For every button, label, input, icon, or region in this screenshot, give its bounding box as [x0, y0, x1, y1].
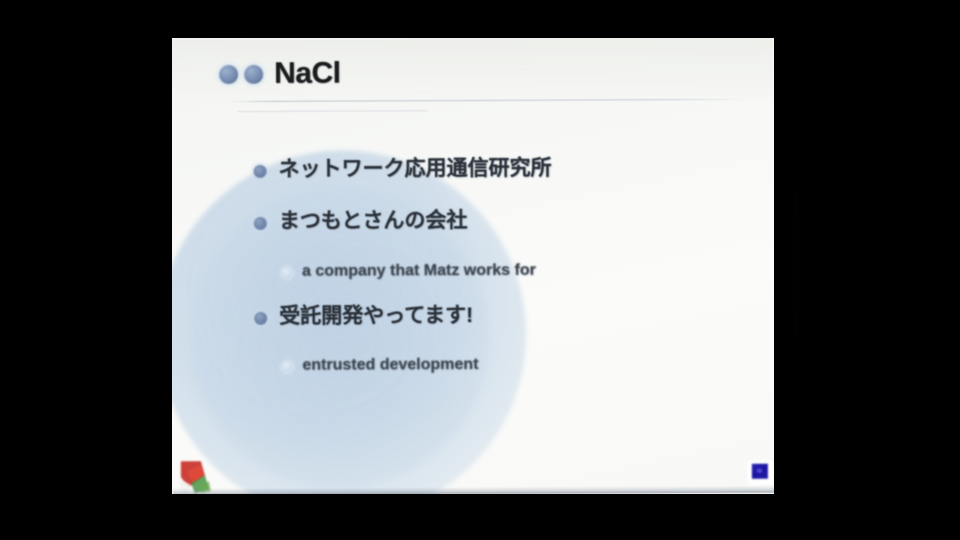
- bullet-text: ネットワーク応用通信研究所: [279, 156, 552, 183]
- title-bullet-left-icon: [219, 65, 238, 84]
- sub-bullet-marker-icon: [282, 267, 292, 277]
- slide-title-row: NaCl: [219, 57, 341, 92]
- title-bullet-right-icon: [244, 64, 263, 83]
- bullet-item: 受託開発やってます!: [172, 301, 774, 330]
- bullet-marker-icon: [254, 311, 267, 324]
- bullet-marker-icon: [254, 217, 267, 230]
- sub-bullet-text: entrusted development: [302, 355, 478, 376]
- bullet-item: まつもとさんの会社: [172, 207, 774, 236]
- sub-bullet-item: entrusted development: [172, 353, 774, 376]
- sub-bullet-text: a company that Matz works for: [302, 260, 536, 281]
- slide-bottom-shade: [173, 486, 774, 494]
- sub-bullet-item: a company that Matz works for: [172, 259, 774, 282]
- slide-title: NaCl: [274, 57, 341, 91]
- bullet-text: まつもとさんの会社: [279, 208, 468, 235]
- blue-square-logo-icon: [748, 461, 772, 485]
- sub-bullet-marker-icon: [282, 362, 292, 372]
- slide-bullet-list: ネットワーク応用通信研究所 まつもとさんの会社 a company that M…: [172, 155, 774, 398]
- bullet-marker-icon: [254, 165, 267, 178]
- presentation-slide: NaCl ネットワーク応用通信研究所 まつもとさんの会社 a company t…: [172, 38, 774, 494]
- bullet-text: 受託開発やってます!: [279, 303, 473, 330]
- slide-content-area: NaCl ネットワーク応用通信研究所 まつもとさんの会社 a company t…: [172, 38, 774, 494]
- bullet-item: ネットワーク応用通信研究所: [172, 155, 774, 184]
- title-separator-rule-secondary: [237, 110, 427, 112]
- video-frame: NaCl ネットワーク応用通信研究所 まつもとさんの会社 a company t…: [0, 0, 960, 540]
